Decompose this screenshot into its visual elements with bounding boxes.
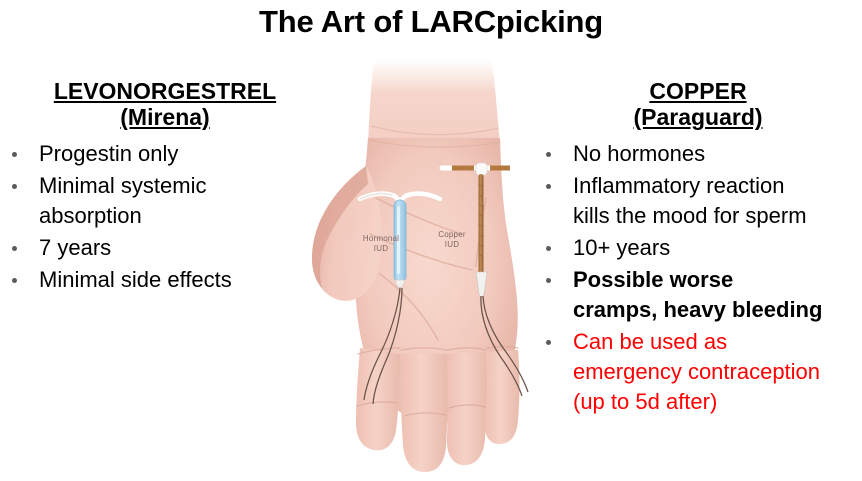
copper-iud-hub: [476, 163, 487, 175]
copper-iud-stem: [479, 174, 484, 274]
list-item-text-continuation: absorption: [39, 201, 330, 231]
bullet-dot-icon: [546, 340, 551, 345]
bullet-dot-icon: [12, 152, 17, 157]
right-heading-line2: (Paraguard): [633, 104, 762, 130]
right-column-heading: COPPER (Paraguard): [534, 78, 862, 130]
left-column: LEVONORGESTREL (Mirena) Progestin only M…: [0, 78, 330, 297]
slide-canvas: The Art of LARCpicking: [0, 0, 862, 481]
list-item: Can be used as emergency contraception (…: [534, 327, 862, 417]
list-item-text: Possible worse: [573, 267, 733, 292]
bullet-dot-icon: [546, 152, 551, 157]
list-item-text: 10+ years: [573, 235, 670, 260]
list-item-text: Minimal side effects: [39, 267, 232, 292]
list-item: Minimal side effects: [0, 265, 330, 295]
list-item: Possible worse cramps, heavy bleeding: [534, 265, 862, 325]
list-item: Inflammatory reaction kills the mood for…: [534, 171, 862, 231]
bullet-dot-icon: [12, 184, 17, 189]
wrist: [368, 60, 500, 146]
bullet-dot-icon: [546, 246, 551, 251]
left-heading-line2: (Mirena): [120, 104, 209, 130]
bullet-dot-icon: [12, 278, 17, 283]
copper-iud-label: Copper IUD: [428, 230, 476, 249]
list-item-text-continuation: cramps, heavy bleeding: [573, 295, 862, 325]
list-item-text-continuation: emergency contraception: [573, 357, 862, 387]
bullet-dot-icon: [12, 246, 17, 251]
left-heading-line1: LEVONORGESTREL: [54, 78, 276, 104]
list-item-text: Progestin only: [39, 141, 178, 166]
list-item-text: No hormones: [573, 141, 705, 166]
left-column-heading: LEVONORGESTREL (Mirena): [0, 78, 330, 130]
right-heading-line1: COPPER: [649, 78, 746, 104]
list-item-text-continuation-2: (up to 5d after): [573, 387, 862, 417]
list-item: No hormones: [534, 139, 862, 169]
left-bullet-list: Progestin only Minimal systemic absorpti…: [0, 139, 330, 295]
list-item-text: Can be used as: [573, 329, 727, 354]
hand-illustration: Hormonal IUD Copper IUD: [296, 48, 568, 481]
list-item: Progestin only: [0, 139, 330, 169]
list-item-text-continuation: kills the mood for sperm: [573, 201, 862, 231]
page-title: The Art of LARCpicking: [0, 4, 862, 40]
right-column: COPPER (Paraguard) No hormones Inflammat…: [534, 78, 862, 419]
ring-finger: [447, 352, 487, 465]
list-item: Minimal systemic absorption: [0, 171, 330, 231]
list-item-text: Minimal systemic: [39, 173, 206, 198]
right-bullet-list: No hormones Inflammatory reaction kills …: [534, 139, 862, 417]
hormonal-iud-label: Hormonal IUD: [354, 234, 408, 253]
bullet-dot-icon: [546, 184, 551, 189]
bullet-dot-icon: [546, 278, 551, 283]
list-item: 10+ years: [534, 233, 862, 263]
list-item-text: 7 years: [39, 235, 111, 260]
index-finger: [356, 348, 400, 450]
list-item-text: Inflammatory reaction: [573, 173, 785, 198]
list-item: 7 years: [0, 233, 330, 263]
